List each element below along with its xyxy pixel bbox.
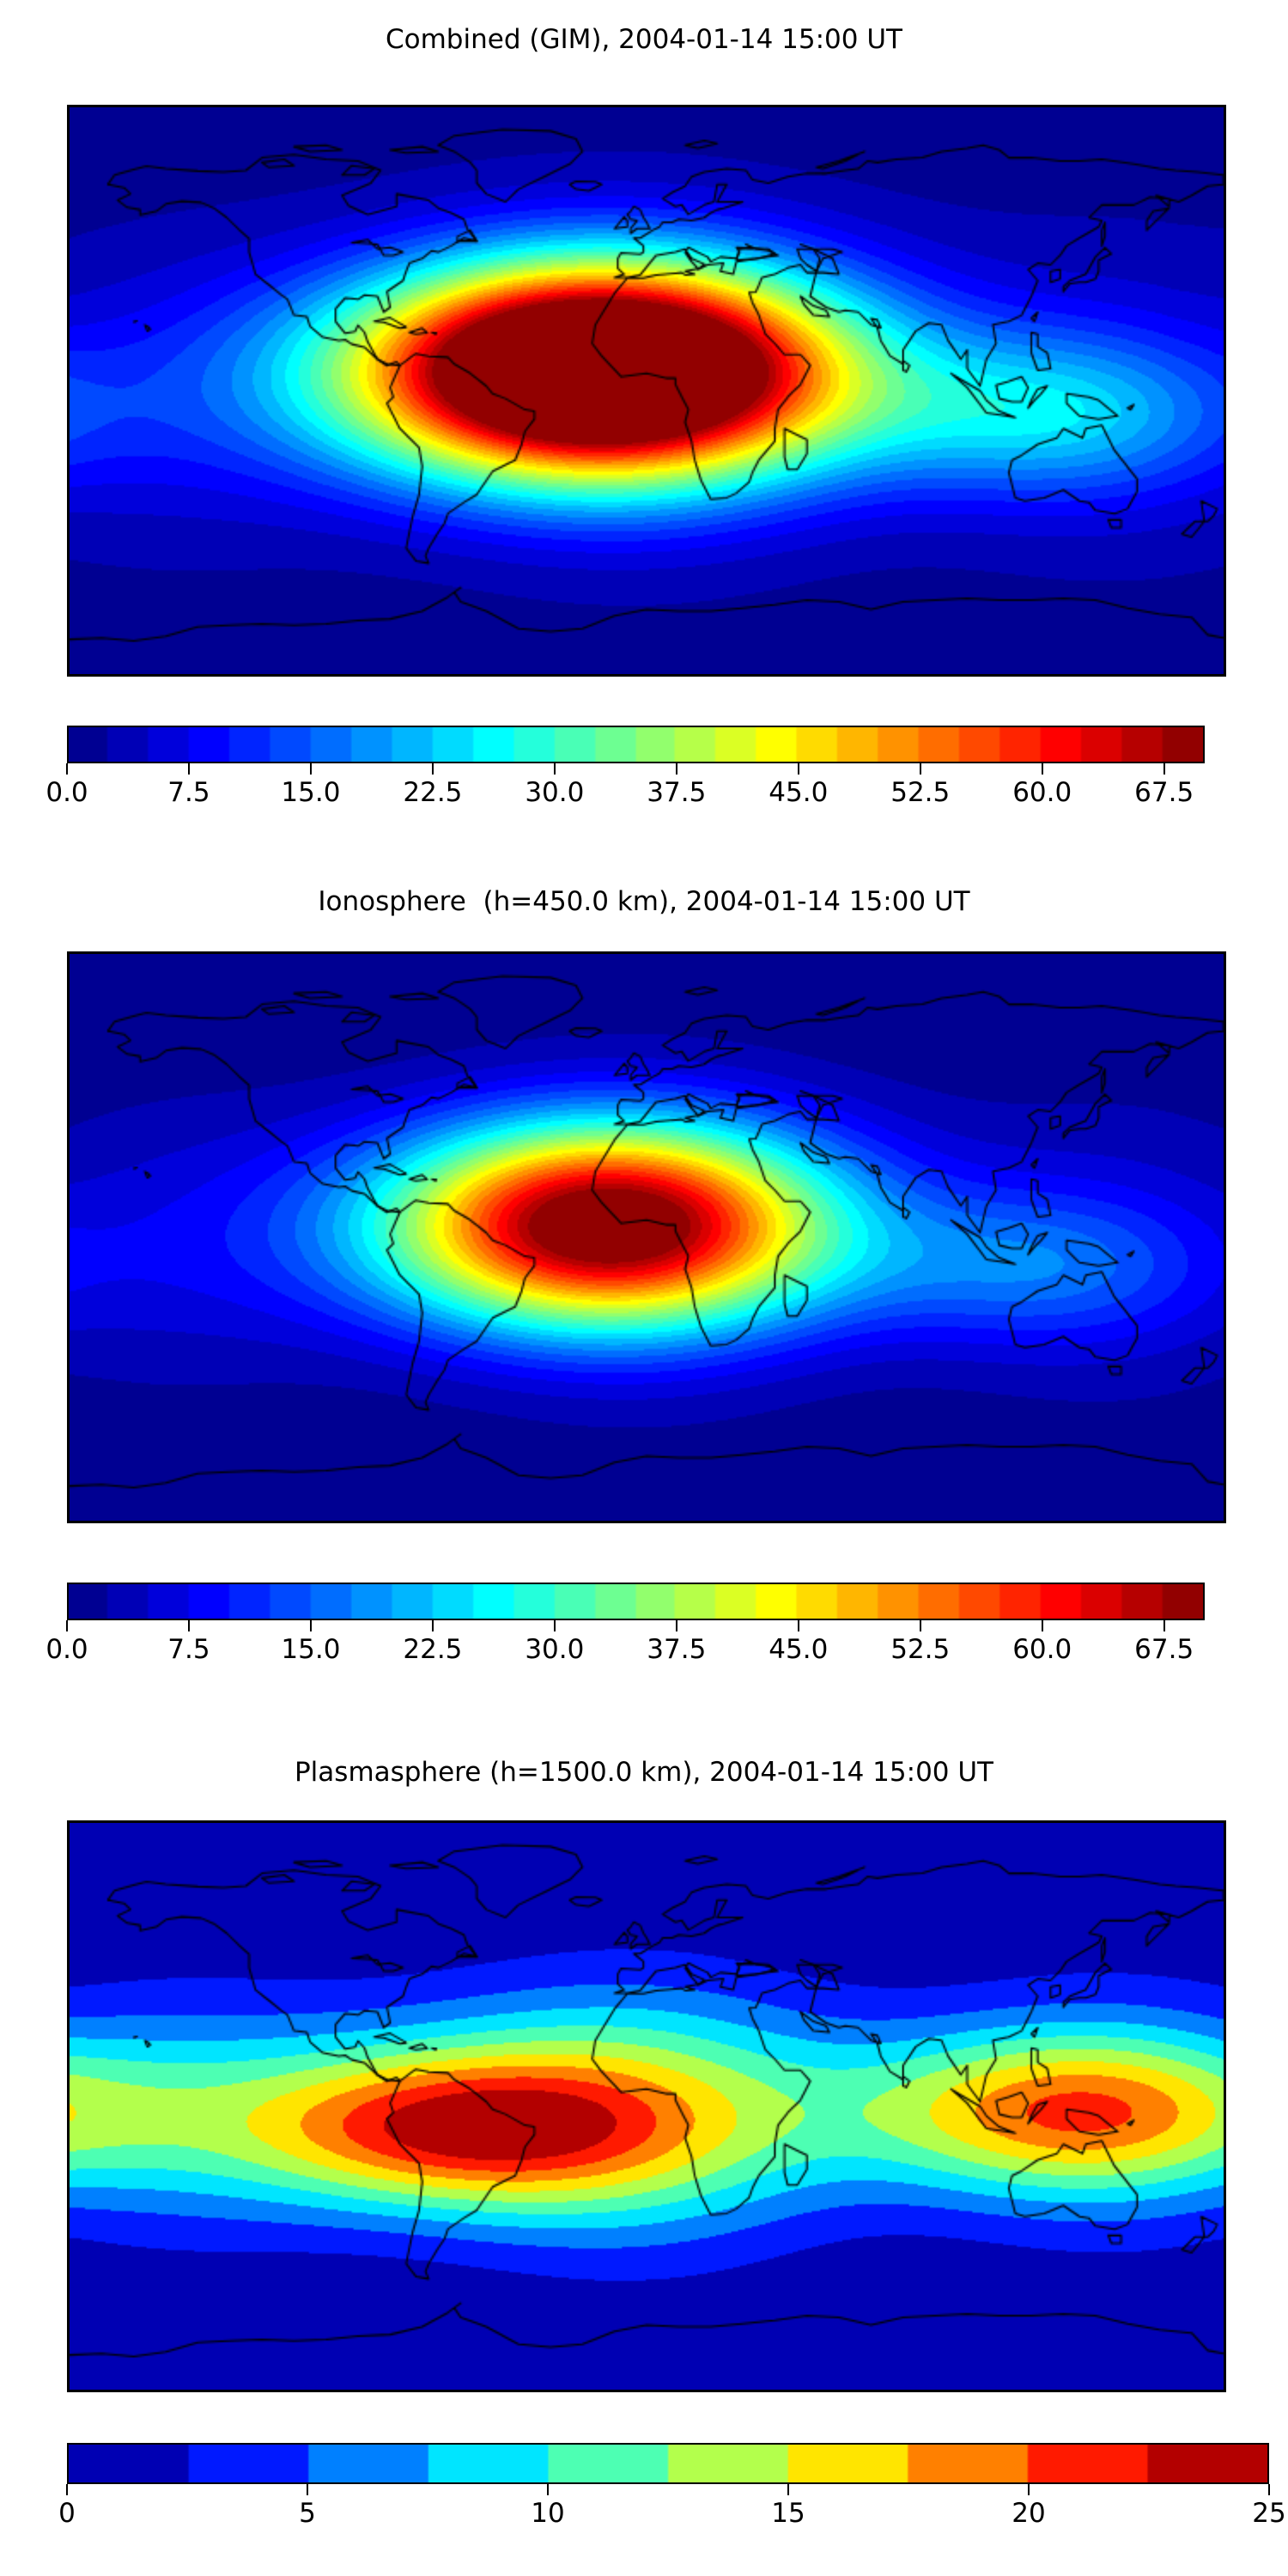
colorbar-tick-label: 52.5 <box>890 777 950 808</box>
colorbar-tick-mark <box>547 2484 549 2495</box>
colorbar-tick-mark <box>1163 763 1165 775</box>
map-plasmasphere <box>67 1820 1226 2392</box>
colorbar-ticks-combined <box>67 763 1205 775</box>
panel-combined-gim: Combined (GIM), 2004-01-14 15:00 UT 0.07… <box>0 0 1288 859</box>
colorbar-tick-mark <box>798 1620 799 1631</box>
colorbar-tick-label: 0 <box>58 2498 76 2529</box>
colorbar-tick-label: 60.0 <box>1012 777 1072 808</box>
colorbar-tick-label: 15.0 <box>281 777 340 808</box>
colorbar-tick-label: 37.5 <box>647 1634 706 1665</box>
colorbar-tick-mark <box>307 2484 308 2495</box>
colorbar-tick-mark <box>66 763 68 775</box>
colorbar-tick-mark <box>676 763 677 775</box>
colorbar-tick-label: 22.5 <box>403 1634 462 1665</box>
panel-ionosphere: Ionosphere (h=450.0 km), 2004-01-14 15:0… <box>0 859 1288 1717</box>
colorbar-plasmasphere <box>67 2443 1269 2484</box>
colorbar-canvas-combined <box>69 727 1203 762</box>
colorbar-tick-mark <box>676 1620 677 1631</box>
colorbar-tick-label: 67.5 <box>1134 777 1194 808</box>
colorbar-tick-label: 25 <box>1252 2498 1285 2529</box>
colorbar-combined <box>67 726 1205 763</box>
colorbar-tick-label: 7.5 <box>167 777 210 808</box>
colorbar-tick-mark <box>310 1620 312 1631</box>
colorbar-tick-mark <box>310 763 312 775</box>
colorbar-ionosphere <box>67 1583 1205 1620</box>
colorbar-canvas-ionosphere <box>69 1584 1203 1619</box>
colorbar-canvas-plasmasphere <box>69 2445 1267 2482</box>
colorbar-tick-label: 10 <box>531 2498 564 2529</box>
colorbar-ticks-plasmasphere <box>67 2484 1269 2496</box>
figure-canvas: Combined (GIM), 2004-01-14 15:00 UT 0.07… <box>0 0 1288 2576</box>
colorbar-tick-label: 60.0 <box>1012 1634 1072 1665</box>
colorbar-tick-mark <box>920 763 921 775</box>
colorbar-tick-mark <box>1268 2484 1270 2495</box>
colorbar-tick-label: 15.0 <box>281 1634 340 1665</box>
colorbar-tick-label: 45.0 <box>769 777 828 808</box>
colorbar-tick-label: 20 <box>1012 2498 1045 2529</box>
colorbar-tick-label: 45.0 <box>769 1634 828 1665</box>
colorbar-tick-label: 52.5 <box>890 1634 950 1665</box>
colorbar-tick-label: 15 <box>771 2498 805 2529</box>
colorbar-tick-label: 0.0 <box>46 777 88 808</box>
panel-title-plasmasphere: Plasmasphere (h=1500.0 km), 2004-01-14 1… <box>0 1757 1288 1788</box>
colorbar-tick-label: 37.5 <box>647 777 706 808</box>
colorbar-tick-mark <box>66 2484 68 2495</box>
colorbar-tick-mark <box>1028 2484 1030 2495</box>
colorbar-tick-label: 22.5 <box>403 777 462 808</box>
colorbar-tick-mark <box>920 1620 921 1631</box>
colorbar-tick-mark <box>1042 763 1043 775</box>
colorbar-tick-label: 0.0 <box>46 1634 88 1665</box>
colorbar-tick-label: 5 <box>299 2498 316 2529</box>
map-canvas-combined <box>70 107 1224 674</box>
map-combined-gim <box>67 105 1226 677</box>
colorbar-tick-mark <box>787 2484 789 2495</box>
colorbar-tick-mark <box>66 1620 68 1631</box>
colorbar-labels-plasmasphere: 0510152025 <box>67 2498 1269 2532</box>
colorbar-tick-mark <box>1042 1620 1043 1631</box>
colorbar-tick-mark <box>1163 1620 1165 1631</box>
colorbar-tick-mark <box>432 763 434 775</box>
panel-plasmasphere: Plasmasphere (h=1500.0 km), 2004-01-14 1… <box>0 1717 1288 2576</box>
map-canvas-ionosphere <box>70 954 1224 1521</box>
colorbar-tick-label: 7.5 <box>167 1634 210 1665</box>
colorbar-labels-combined: 0.07.515.022.530.037.545.052.560.067.5 <box>67 777 1205 811</box>
panel-title-ionosphere: Ionosphere (h=450.0 km), 2004-01-14 15:0… <box>0 886 1288 917</box>
colorbar-tick-label: 30.0 <box>525 777 584 808</box>
colorbar-labels-ionosphere: 0.07.515.022.530.037.545.052.560.067.5 <box>67 1634 1205 1668</box>
panel-title-combined: Combined (GIM), 2004-01-14 15:00 UT <box>0 24 1288 55</box>
colorbar-tick-mark <box>554 1620 556 1631</box>
colorbar-tick-mark <box>188 1620 190 1631</box>
colorbar-tick-mark <box>432 1620 434 1631</box>
map-ionosphere <box>67 951 1226 1523</box>
map-canvas-plasmasphere <box>70 1823 1224 2390</box>
colorbar-tick-label: 30.0 <box>525 1634 584 1665</box>
colorbar-tick-mark <box>798 763 799 775</box>
colorbar-tick-label: 67.5 <box>1134 1634 1194 1665</box>
colorbar-tick-mark <box>554 763 556 775</box>
colorbar-tick-mark <box>188 763 190 775</box>
colorbar-ticks-ionosphere <box>67 1620 1205 1632</box>
